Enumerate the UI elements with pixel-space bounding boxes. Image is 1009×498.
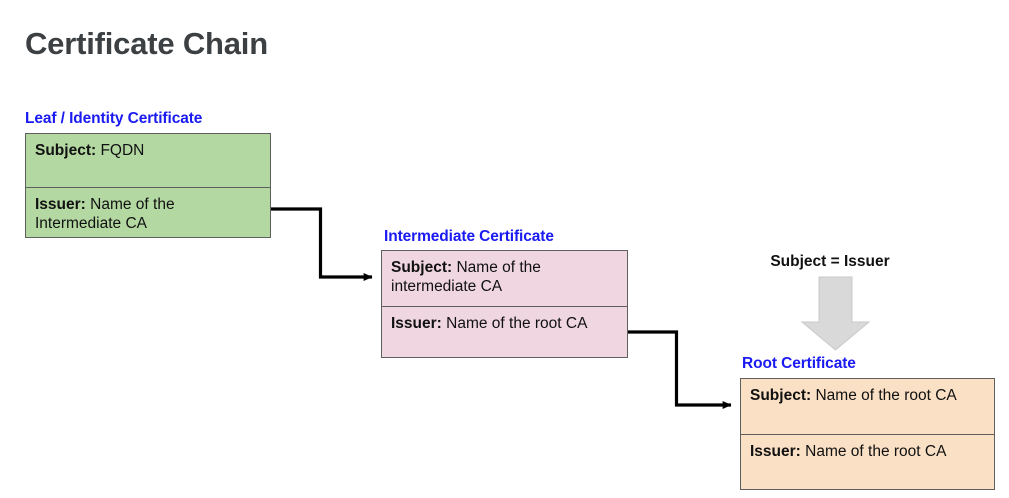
intermediate-certificate-box: Subject: Name of the intermediate CA Iss…: [381, 250, 628, 358]
root-issuer-key: Issuer:: [750, 443, 801, 460]
intermediate-subject-key: Subject:: [391, 259, 452, 276]
self-signed-down-arrow-icon: [802, 277, 869, 350]
self-signed-note: Subject = Issuer: [760, 253, 900, 271]
intermediate-subject-row: Subject: Name of the intermediate CA: [382, 251, 627, 307]
leaf-subject-row: Subject: FQDN: [26, 134, 270, 188]
leaf-subject-value: FQDN: [100, 142, 144, 159]
intermediate-issuer-row: Issuer: Name of the root CA: [382, 307, 627, 357]
leaf-subject-key: Subject:: [35, 142, 96, 159]
intermediate-issuer-value: Name of the root CA: [446, 315, 587, 332]
connector-intermediate-to-root-arrow: [628, 332, 731, 405]
intermediate-certificate-label: Intermediate Certificate: [384, 228, 554, 246]
page-title: Certificate Chain: [25, 26, 268, 62]
connector-leaf-to-intermediate-arrow: [271, 209, 372, 277]
root-subject-row: Subject: Name of the root CA: [741, 379, 994, 435]
root-issuer-row: Issuer: Name of the root CA: [741, 435, 994, 490]
diagram-canvas: Certificate Chain Leaf / Identity Certif…: [0, 0, 1009, 498]
root-certificate-label: Root Certificate: [742, 355, 856, 373]
root-certificate-box: Subject: Name of the root CA Issuer: Nam…: [740, 378, 995, 490]
root-issuer-value: Name of the root CA: [805, 443, 946, 460]
leaf-issuer-key: Issuer:: [35, 196, 86, 213]
root-subject-key: Subject:: [750, 387, 811, 404]
root-subject-value: Name of the root CA: [815, 387, 956, 404]
intermediate-issuer-key: Issuer:: [391, 315, 442, 332]
leaf-certificate-label: Leaf / Identity Certificate: [25, 110, 202, 128]
leaf-issuer-row: Issuer: Name of the Intermediate CA: [26, 188, 270, 237]
leaf-certificate-box: Subject: FQDN Issuer: Name of the Interm…: [25, 133, 271, 238]
